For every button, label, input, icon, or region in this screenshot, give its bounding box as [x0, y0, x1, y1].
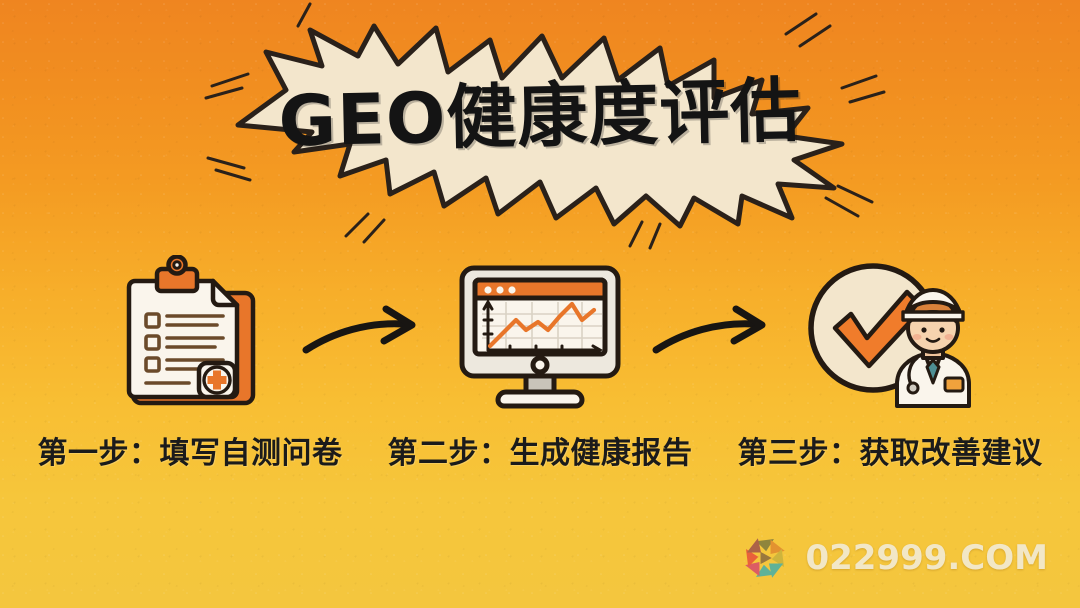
step-icon-row	[0, 250, 1080, 420]
poster-root: GEO健康度评估	[0, 0, 1080, 608]
clipboard-checklist-icon	[105, 255, 275, 415]
curved-arrow-right-icon	[650, 305, 780, 365]
step-2-icon	[440, 250, 640, 420]
step-1-icon	[90, 250, 290, 420]
arrow-1	[290, 250, 440, 420]
step-3-icon	[790, 250, 990, 420]
pinwheel-aperture-logo	[737, 530, 793, 586]
monitor-line-chart-icon	[450, 258, 630, 413]
curved-arrow-right-icon	[300, 305, 430, 365]
window-dots	[484, 286, 515, 293]
step-label-row: 第一步：填写自测问卷 第二步：生成健康报告 第三步：获取改善建议	[0, 428, 1080, 472]
arrow-2	[640, 250, 790, 420]
checkmark-doctor-icon	[795, 260, 985, 410]
title-burst: GEO健康度评估	[190, 18, 890, 233]
watermark-text: 022999.COM	[805, 538, 1048, 578]
medical-cross-badge	[199, 363, 235, 397]
step-1-label: 第一步：填写自测问卷	[15, 428, 365, 472]
page-title: GEO健康度评估	[189, 74, 890, 159]
watermark: 022999.COM	[737, 530, 1048, 586]
step-2-label: 第二步：生成健康报告	[365, 428, 715, 472]
step-3-label: 第三步：获取改善建议	[715, 428, 1065, 472]
